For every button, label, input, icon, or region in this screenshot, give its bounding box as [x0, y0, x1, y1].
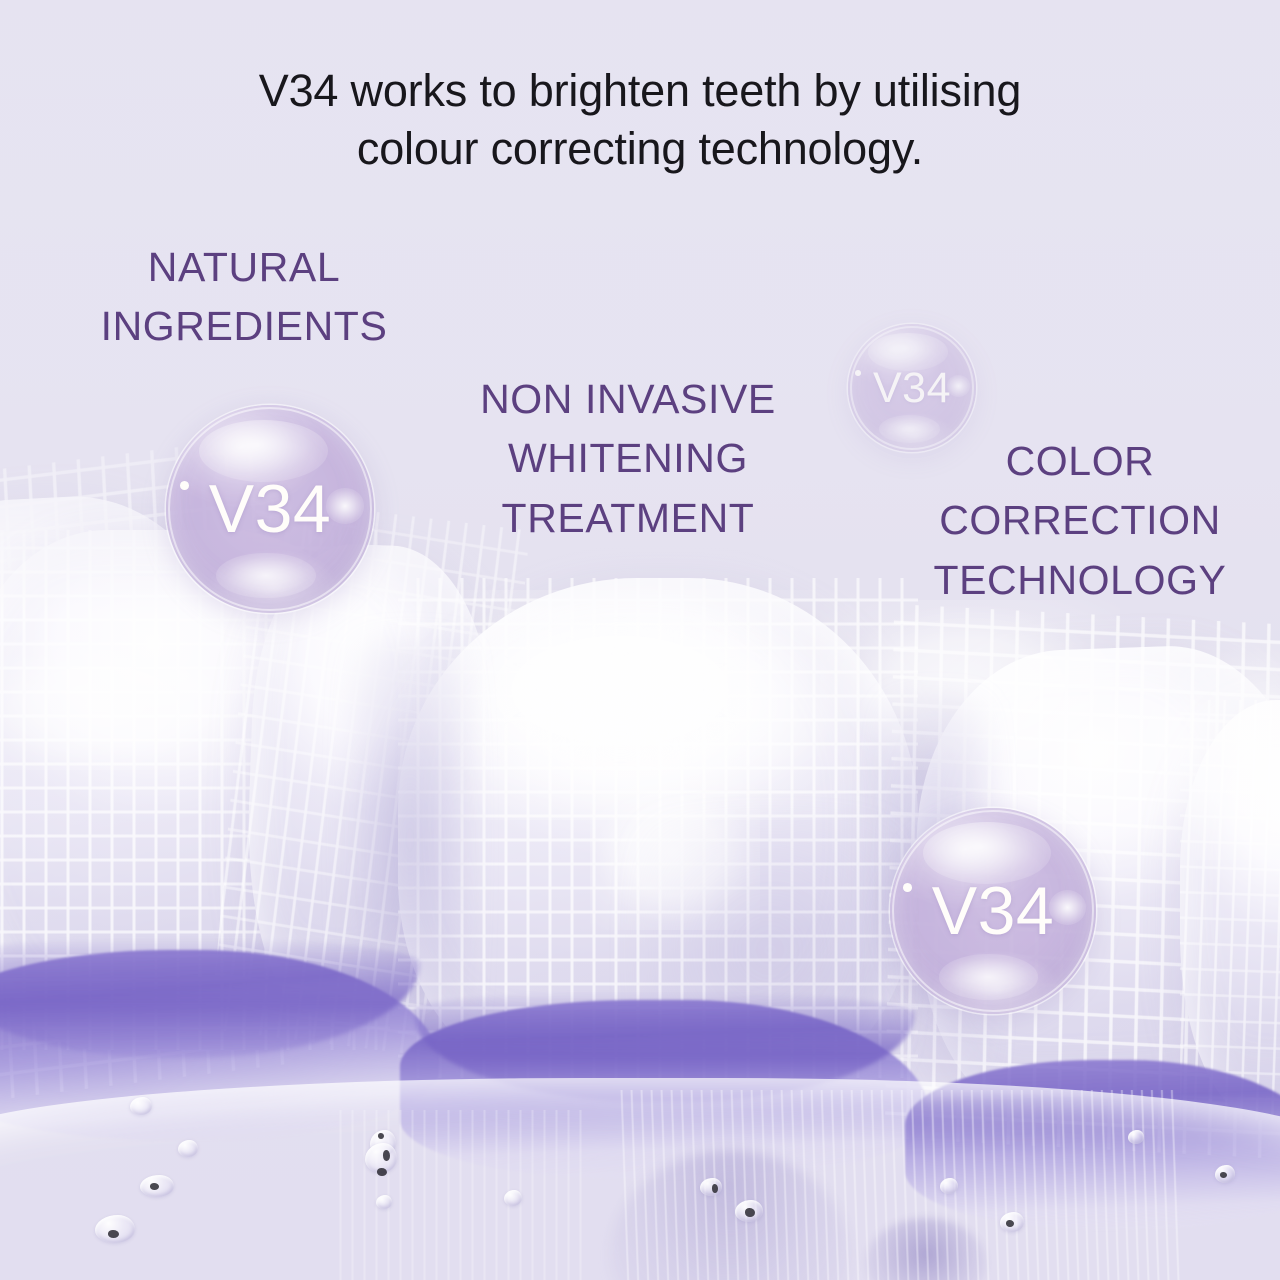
droplet-speck: [378, 1133, 384, 1139]
brand-dot-icon: [180, 481, 189, 490]
droplet-speck: [150, 1183, 159, 1190]
droplet-speck: [1006, 1220, 1014, 1227]
enamel-mesh-texture: [398, 578, 918, 1078]
droplet-speck: [712, 1184, 718, 1193]
feature-label-color-correction-technology: COLOR CORRECTION TECHNOLOGY: [880, 432, 1280, 610]
feature-label-natural-ingredients: NATURAL INGREDIENTS: [44, 238, 444, 357]
brand-dot-icon: [903, 883, 912, 892]
bubble-highlight-bottom: [939, 954, 1038, 999]
bubble-highlight-bottom: [216, 553, 316, 599]
water-droplet: [700, 1178, 722, 1196]
tooth-far-right: [1180, 700, 1280, 1120]
water-droplet: [130, 1097, 152, 1115]
water-droplet: [504, 1190, 522, 1206]
feature-label-non-invasive-whitening-treatment: NON INVASIVE WHITENING TREATMENT: [440, 370, 816, 548]
droplet-speck: [383, 1150, 390, 1161]
tooth-center: [398, 578, 918, 1078]
droplet-speck: [108, 1230, 119, 1238]
enamel-mesh-texture: [1180, 700, 1280, 1120]
brand-dot-icon: [855, 370, 861, 376]
v34-bubble-right: V34: [890, 808, 1096, 1014]
v34-bubble-label: V34: [932, 873, 1055, 949]
v34-bubble-label: V34: [873, 364, 951, 412]
v34-brand-mark: V34: [932, 872, 1055, 950]
water-droplet: [376, 1195, 392, 1209]
bubble-highlight-bottom: [879, 415, 940, 443]
droplet-speck: [745, 1208, 755, 1217]
water-droplet: [95, 1215, 135, 1243]
droplet-speck: [377, 1168, 387, 1176]
promo-graphic: V34 works to brighten teeth by utilising…: [0, 0, 1280, 1280]
water-droplet: [940, 1178, 958, 1194]
bubble-highlight-right: [326, 488, 363, 523]
page-title: V34 works to brighten teeth by utilising…: [0, 62, 1280, 177]
teeth-macro-photo: [0, 0, 1280, 1280]
v34-brand-mark: V34: [209, 470, 332, 548]
v34-brand-mark: V34: [873, 364, 951, 413]
v34-bubble-label: V34: [209, 471, 332, 547]
water-droplet: [178, 1140, 198, 1157]
water-droplet: [1128, 1130, 1144, 1144]
droplet-speck: [1220, 1172, 1227, 1178]
v34-bubble-small: V34: [848, 324, 976, 452]
v34-bubble-left: V34: [166, 405, 374, 613]
gel-drip-striations-left: [330, 1110, 590, 1280]
